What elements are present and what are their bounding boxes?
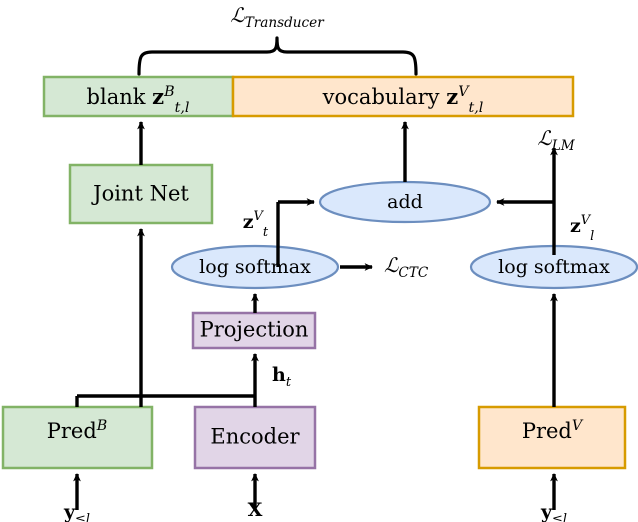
blank-subscript: t,l	[175, 100, 190, 116]
z-l-v-subscript: l	[590, 229, 594, 244]
z-l-v-symbol: z	[570, 215, 581, 237]
z-l-v-label: zVl	[570, 213, 594, 244]
vocabulary-subscript: t,l	[469, 100, 484, 116]
input-pred-v-symbol: y	[540, 501, 553, 522]
encoder-label: Encoder	[210, 425, 300, 449]
loss-transducer-label: ℒTransducer	[230, 3, 325, 31]
loss-ctc-subscript: CTC	[398, 265, 428, 281]
diagram-canvas: ℒTransducer blank zBt,l vocabulary zVt,l…	[0, 0, 638, 522]
log-softmax-right-label: log softmax	[498, 256, 610, 278]
input-pred-v-subscript: ≤l	[552, 512, 567, 522]
blank-symbol: z	[152, 84, 164, 109]
loss-transducer-symbol: ℒ	[230, 3, 245, 27]
loss-lm-symbol: ℒ	[537, 126, 552, 150]
pred-b-text: Pred	[47, 419, 97, 443]
blank-text: blank	[87, 85, 146, 109]
z-l-v-superscript: V	[581, 213, 592, 228]
pred-v-superscript: V	[572, 418, 584, 434]
pred-v-text: Pred	[522, 419, 572, 443]
pred-b-superscript: B	[96, 418, 107, 434]
loss-transducer-subscript: Transducer	[245, 15, 326, 31]
vocabulary-superscript: V	[458, 84, 470, 100]
transducer-brace	[139, 38, 416, 74]
loss-ctc-label: ℒCTC	[384, 253, 429, 281]
input-pred-b-symbol: y	[63, 501, 76, 522]
vocabulary-symbol: z	[446, 84, 458, 109]
add-label: add	[387, 191, 423, 213]
input-encoder-label: X	[248, 499, 263, 521]
projection-label: Projection	[200, 318, 309, 342]
z-t-v-label: zVt	[243, 209, 269, 240]
z-t-v-superscript: V	[253, 209, 264, 224]
joint-net-label: Joint Net	[91, 182, 189, 206]
log-softmax-left-label: log softmax	[199, 256, 311, 278]
z-t-v-subscript: t	[263, 225, 269, 240]
h-t-label: ht	[272, 364, 292, 390]
blank-superscript: B	[163, 84, 174, 100]
vocabulary-text: vocabulary	[322, 85, 440, 109]
loss-ctc-symbol: ℒ	[384, 253, 399, 277]
transducer-architecture-diagram: ℒTransducer blank zBt,l vocabulary zVt,l…	[0, 0, 638, 522]
h-t-symbol: h	[272, 364, 286, 386]
z-t-v-symbol: z	[243, 211, 254, 233]
loss-lm-subscript: LM	[551, 138, 576, 154]
input-pred-b-subscript: ≤l	[75, 512, 90, 522]
loss-lm-label: ℒLM	[537, 126, 575, 154]
h-t-subscript: t	[286, 375, 292, 390]
